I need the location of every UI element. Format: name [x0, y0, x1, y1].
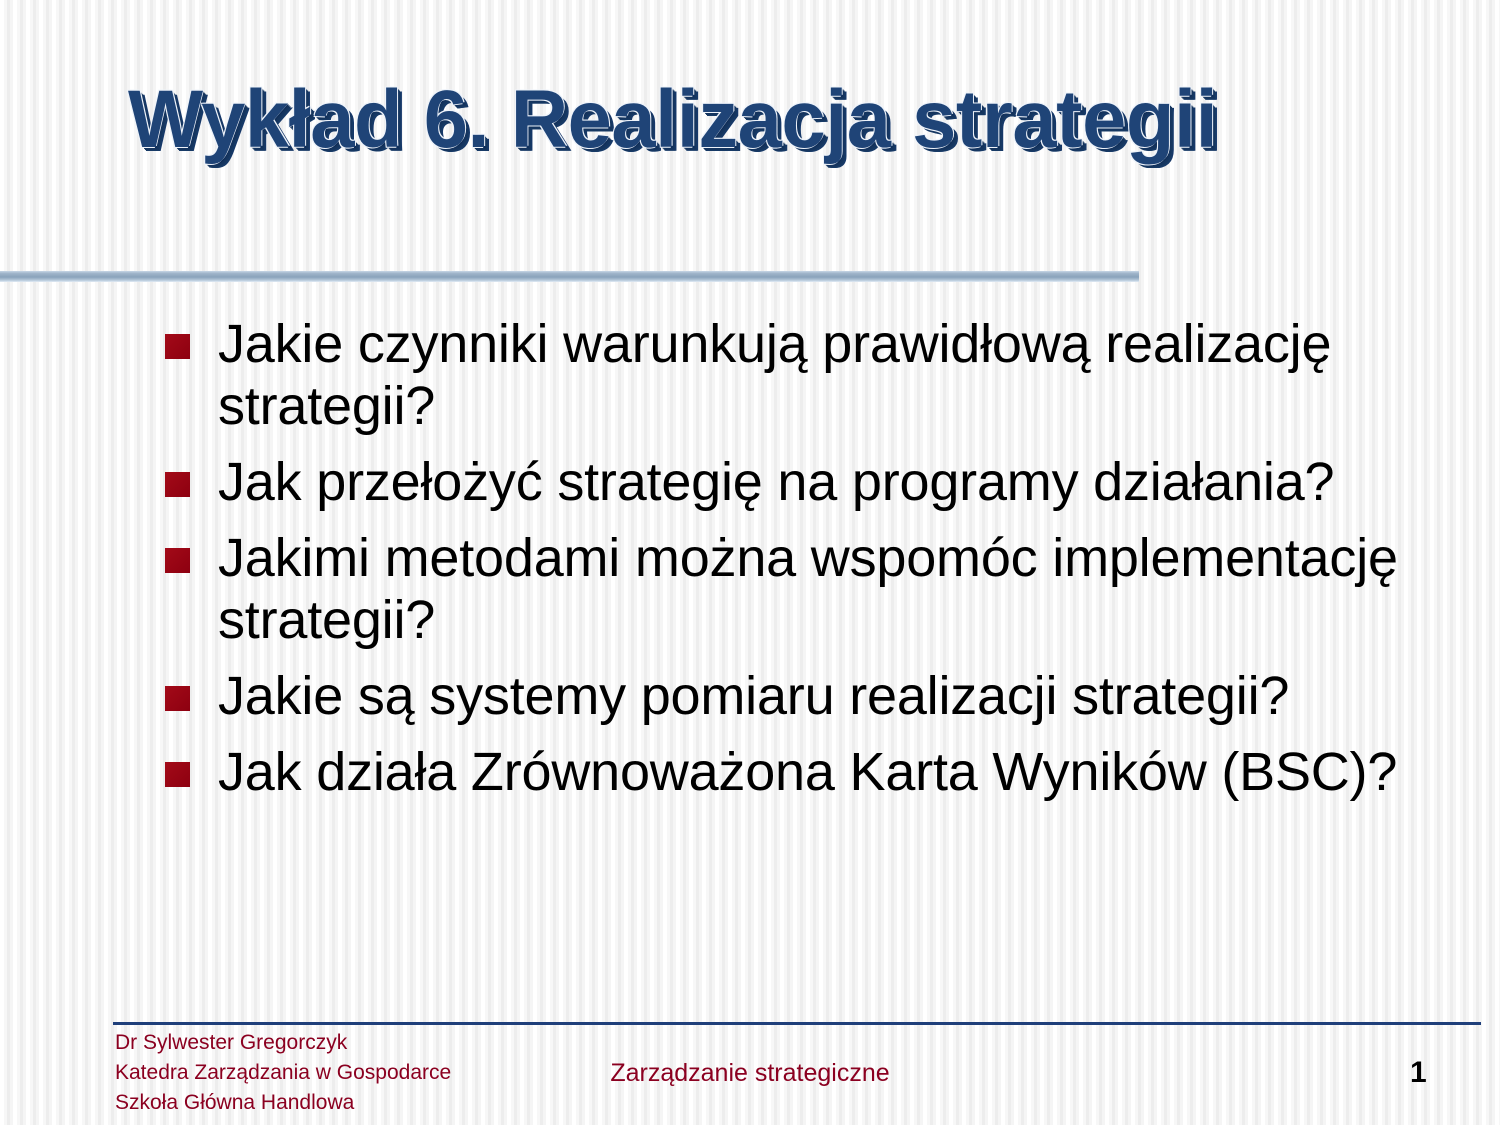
- list-item: Jakie czynniki warunkują prawidłową real…: [165, 313, 1450, 437]
- square-bullet-icon: [165, 334, 190, 359]
- square-bullet-icon: [165, 686, 190, 711]
- square-bullet-icon: [165, 548, 190, 573]
- list-item: Jakimi metodami można wspomóc implementa…: [165, 527, 1450, 651]
- page-title: Wykład 6. Realizacja strategii: [128, 72, 1156, 168]
- footer-institution: Szkoła Główna Handlowa: [115, 1088, 451, 1118]
- title-block: Wykład 6. Realizacja strategii: [128, 72, 1188, 172]
- list-item: Jak działa Zrównoważona Karta Wyników (B…: [165, 741, 1450, 803]
- list-item-label: Jakie są systemy pomiaru realizacji stra…: [218, 665, 1450, 727]
- bullet-list: Jakie czynniki warunkują prawidłową real…: [165, 313, 1450, 817]
- square-bullet-icon: [165, 472, 190, 497]
- list-item: Jakie są systemy pomiaru realizacji stra…: [165, 665, 1450, 727]
- title-divider: [0, 271, 1139, 282]
- list-item-label: Jak działa Zrównoważona Karta Wyników (B…: [218, 741, 1450, 803]
- list-item-label: Jakie czynniki warunkują prawidłową real…: [218, 313, 1450, 437]
- square-bullet-icon: [165, 762, 190, 787]
- slide-canvas: Wykład 6. Realizacja strategii Jakie czy…: [0, 0, 1500, 1125]
- list-item-label: Jakimi metodami można wspomóc implementa…: [218, 527, 1450, 651]
- slide-page-number: 1: [1410, 1056, 1450, 1090]
- list-item: Jak przełożyć strategię na programy dzia…: [165, 451, 1450, 513]
- footer-divider: [113, 1022, 1481, 1025]
- footer-course-title: Zarządzanie strategiczne: [0, 1058, 1500, 1088]
- footer-author-name: Dr Sylwester Gregorczyk: [115, 1028, 451, 1058]
- list-item-label: Jak przełożyć strategię na programy dzia…: [218, 451, 1450, 513]
